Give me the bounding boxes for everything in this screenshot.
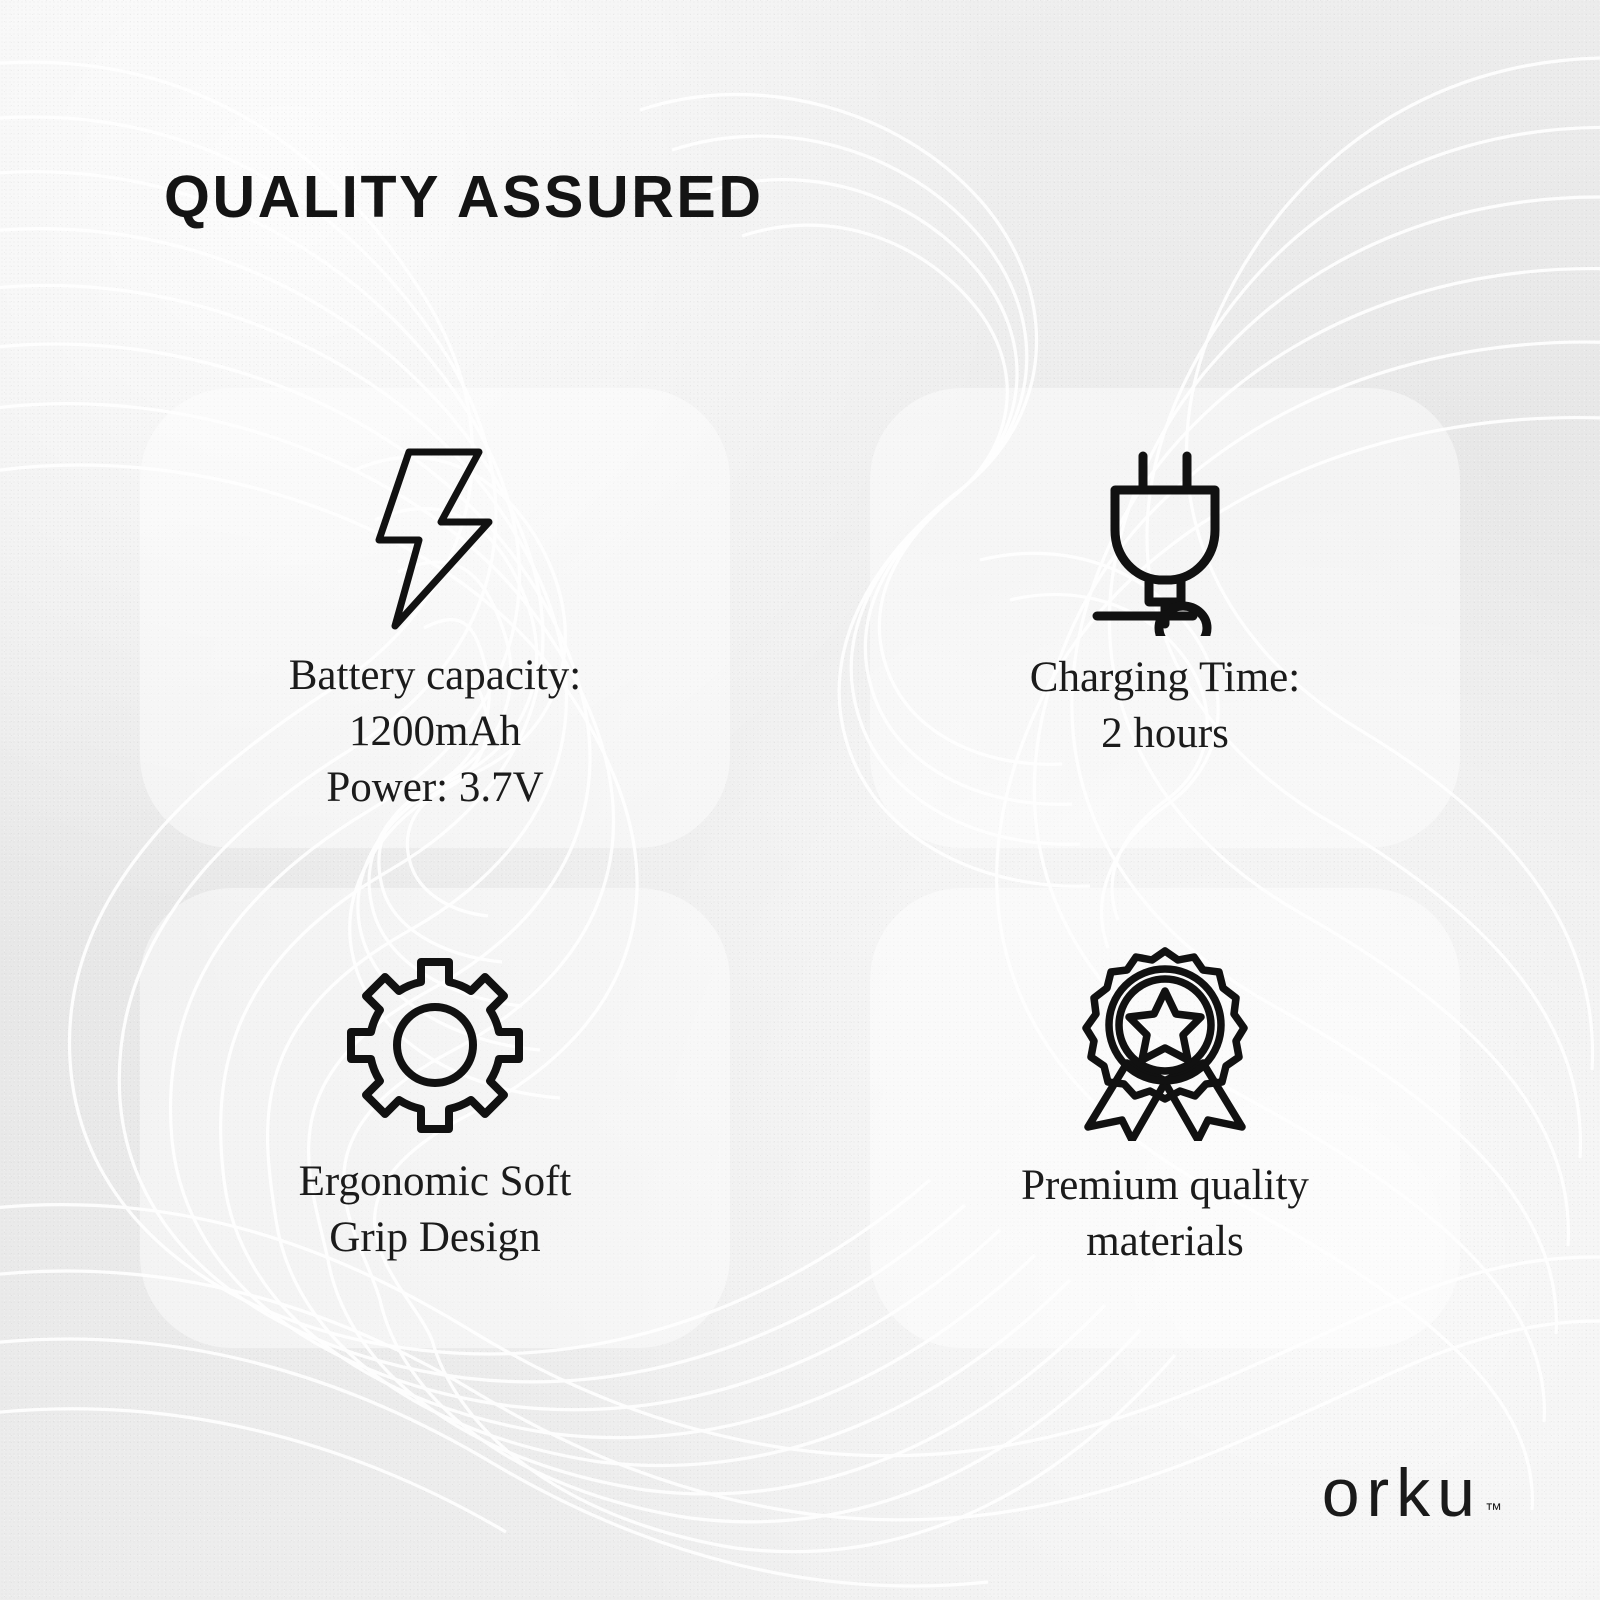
poster-canvas: QUALITY ASSURED Battery capacity: 1200mA… bbox=[0, 0, 1600, 1600]
feature-line-2: materials bbox=[1021, 1214, 1309, 1270]
feature-line-2: Grip Design bbox=[299, 1210, 572, 1266]
feature-line-3: Power: 3.7V bbox=[289, 760, 582, 816]
gear-icon bbox=[340, 950, 530, 1140]
brand-logo: orku ™ bbox=[1322, 1461, 1502, 1526]
feature-card-battery[interactable]: Battery capacity: 1200mAh Power: 3.7V bbox=[140, 388, 730, 848]
trademark-symbol: ™ bbox=[1485, 1500, 1502, 1520]
feature-line-2: 2 hours bbox=[1030, 706, 1300, 762]
power-plug-icon bbox=[1070, 446, 1260, 636]
lightning-bolt-icon bbox=[340, 444, 530, 634]
page-title: QUALITY ASSURED bbox=[164, 163, 764, 231]
feature-line-1: Battery capacity: bbox=[289, 648, 582, 704]
feature-line-1: Charging Time: bbox=[1030, 650, 1300, 706]
award-ribbon-icon bbox=[1070, 946, 1260, 1136]
feature-card-charging[interactable]: Charging Time: 2 hours bbox=[870, 388, 1460, 848]
feature-line-1: Premium quality bbox=[1021, 1158, 1309, 1214]
feature-text-charging: Charging Time: 2 hours bbox=[1030, 650, 1300, 762]
brand-name: orku bbox=[1322, 1461, 1482, 1526]
feature-card-grip[interactable]: Ergonomic Soft Grip Design bbox=[140, 888, 730, 1348]
feature-text-premium: Premium quality materials bbox=[1021, 1158, 1309, 1270]
feature-card-premium[interactable]: Premium quality materials bbox=[870, 888, 1460, 1348]
feature-text-battery: Battery capacity: 1200mAh Power: 3.7V bbox=[289, 648, 582, 816]
feature-text-grip: Ergonomic Soft Grip Design bbox=[299, 1154, 572, 1266]
feature-grid: Battery capacity: 1200mAh Power: 3.7V bbox=[140, 388, 1460, 1348]
feature-line-1: Ergonomic Soft bbox=[299, 1154, 572, 1210]
feature-line-2: 1200mAh bbox=[289, 704, 582, 760]
